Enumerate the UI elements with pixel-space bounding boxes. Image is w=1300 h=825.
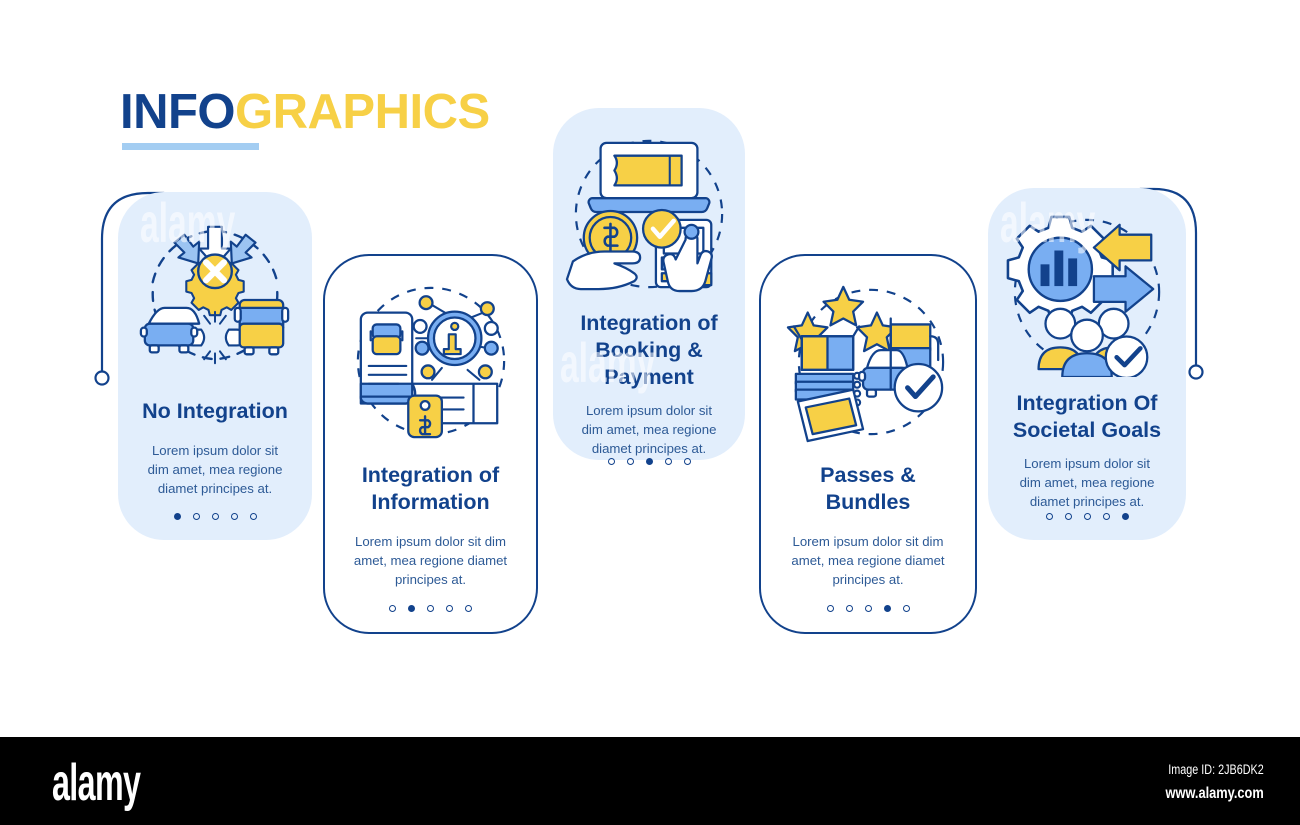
- dot-3[interactable]: [427, 605, 434, 612]
- dot-4[interactable]: [446, 605, 453, 612]
- step-body: Lorem ipsum dolor sit dim amet, mea regi…: [567, 401, 731, 458]
- footer-bar: alamy Image ID: 2JB6DK2 www.alamy.com: [0, 737, 1300, 825]
- dot-4[interactable]: [665, 458, 672, 465]
- dot-5[interactable]: [250, 513, 257, 520]
- footer-meta: Image ID: 2JB6DK2 www.alamy.com: [1141, 759, 1264, 807]
- dot-5[interactable]: [465, 605, 472, 612]
- dot-1[interactable]: [608, 458, 615, 465]
- dot-2[interactable]: [1065, 513, 1072, 520]
- step-indicator-dots[interactable]: [389, 605, 472, 612]
- step-indicator-dots[interactable]: [1046, 513, 1129, 520]
- dot-4[interactable]: [231, 513, 238, 520]
- dot-3[interactable]: [865, 605, 872, 612]
- footer-image-id: Image ID: 2JB6DK2: [1166, 759, 1264, 781]
- step-body: Lorem ipsum dolor sit dim amet, mea regi…: [1002, 454, 1172, 511]
- footer-url: www.alamy.com: [1166, 781, 1264, 807]
- page-title-secondary: GRAPHICS: [235, 85, 490, 139]
- dot-2[interactable]: [193, 513, 200, 520]
- dot-1[interactable]: [389, 605, 396, 612]
- dot-2[interactable]: [627, 458, 634, 465]
- infographic-canvas: INFOGRAPHICS: [0, 0, 1300, 825]
- dot-5[interactable]: [1122, 513, 1129, 520]
- dot-1[interactable]: [827, 605, 834, 612]
- dot-1[interactable]: [1046, 513, 1053, 520]
- dot-4[interactable]: [884, 605, 891, 612]
- step-title: Passes & Bundles: [775, 462, 961, 516]
- dot-1[interactable]: [174, 513, 181, 520]
- page-title-primary: INFO: [120, 85, 235, 139]
- step-card-no-integration[interactable]: No Integration Lorem ipsum dolor sit dim…: [118, 192, 312, 540]
- step-card-integration-of-societal-goals[interactable]: Integration Of Societal Goals Lorem ipsu…: [988, 188, 1186, 540]
- step-body: Lorem ipsum dolor sit dim amet, mea regi…: [339, 532, 522, 589]
- left-connector-endpoint: [96, 372, 109, 385]
- dot-3[interactable]: [212, 513, 219, 520]
- step-indicator-dots[interactable]: [827, 605, 910, 612]
- car-bus-broken-link-gear-icon: [130, 212, 300, 382]
- gear-chart-arrows-people-check-icon: [1002, 208, 1172, 378]
- dot-5[interactable]: [684, 458, 691, 465]
- phone-bus-info-network-ticket-tag-icon: [346, 276, 516, 446]
- right-connector-endpoint: [1190, 366, 1203, 379]
- dot-3[interactable]: [1084, 513, 1091, 520]
- alamy-logo: alamy: [52, 753, 140, 813]
- step-indicator-dots[interactable]: [174, 513, 257, 520]
- dot-5[interactable]: [903, 605, 910, 612]
- stars-box-tickets-vehicle-check-icon: [783, 276, 953, 446]
- dot-3[interactable]: [646, 458, 653, 465]
- step-title: Integration Of Societal Goals: [1002, 390, 1172, 444]
- dot-4[interactable]: [1103, 513, 1110, 520]
- step-indicator-dots[interactable]: [608, 458, 691, 465]
- step-body: Lorem ipsum dolor sit dim amet, mea regi…: [132, 441, 298, 498]
- step-title: No Integration: [138, 398, 292, 425]
- dot-2[interactable]: [408, 605, 415, 612]
- step-card-passes-and-bundles[interactable]: Passes & Bundles Lorem ipsum dolor sit d…: [759, 254, 977, 634]
- step-card-integration-of-information[interactable]: Integration of Information Lorem ipsum d…: [323, 254, 538, 634]
- dot-2[interactable]: [846, 605, 853, 612]
- step-body: Lorem ipsum dolor sit dim amet, mea regi…: [775, 532, 961, 589]
- step-title: Integration of Information: [339, 462, 522, 516]
- step-title: Integration of Booking & Payment: [567, 310, 731, 391]
- title-underline: [122, 143, 259, 150]
- laptop-ticket-coin-hand-checkmark-icon: [564, 128, 734, 298]
- step-card-integration-of-booking-and-payment[interactable]: Integration of Booking & Payment Lorem i…: [553, 108, 745, 460]
